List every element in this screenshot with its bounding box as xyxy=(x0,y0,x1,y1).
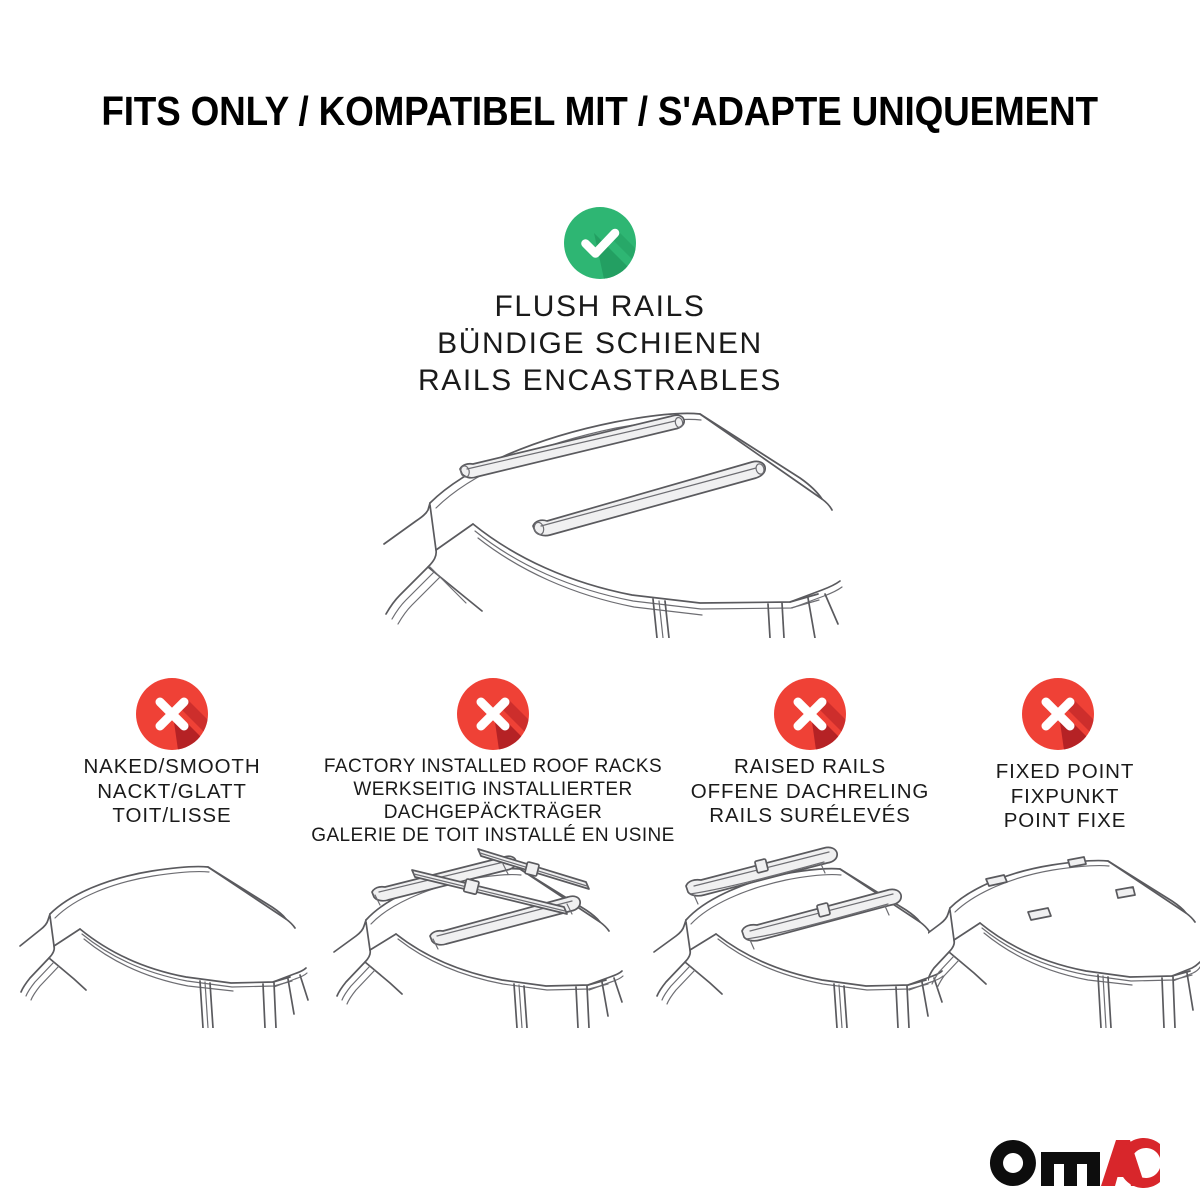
label-line-3: DACHGEPÄCKTRÄGER xyxy=(300,801,686,824)
x-glyph xyxy=(457,678,529,750)
label-line-2: OFFENE DACHRELING xyxy=(660,780,960,805)
compatible-label: FLUSH RAILS BÜNDIGE SCHIENEN RAILS ENCAS… xyxy=(0,288,1200,399)
label-line-1: RAISED RAILS xyxy=(660,755,960,780)
omac-logo: OMAC xyxy=(988,1138,1160,1188)
label-line-3: RAILS SURÉLEVÉS xyxy=(660,804,960,829)
label-line-1: FACTORY INSTALLED ROOF RACKS xyxy=(300,755,686,778)
compatible-label-line-1: FLUSH RAILS xyxy=(0,288,1200,325)
incompatible-label-raised-rails: RAISED RAILS OFFENE DACHRELING RAILS SUR… xyxy=(660,755,960,829)
label-line-1: FIXED POINT xyxy=(930,760,1200,785)
page-title-text: FITS ONLY / KOMPATIBEL MIT / S'ADAPTE UN… xyxy=(102,88,1098,134)
car-roof-fixed-point-illustration xyxy=(928,838,1200,1028)
x-glyph xyxy=(774,678,846,750)
x-glyph xyxy=(1022,678,1094,750)
compatible-label-line-3: RAILS ENCASTRABLES xyxy=(0,362,1200,399)
x-circle-icon xyxy=(1022,678,1094,750)
label-line-2: NACKT/GLATT xyxy=(22,780,322,805)
incompatible-label-fixed-point: FIXED POINT FIXPUNKT POINT FIXE xyxy=(930,760,1200,834)
compatible-label-line-2: BÜNDIGE SCHIENEN xyxy=(0,325,1200,362)
label-line-3: TOIT/LISSE xyxy=(22,804,322,829)
label-line-3: POINT FIXE xyxy=(930,809,1200,834)
page-title: FITS ONLY / KOMPATIBEL MIT / S'ADAPTE UN… xyxy=(0,88,1200,134)
check-circle-icon xyxy=(564,207,636,279)
logo-letter-o xyxy=(990,1140,1036,1186)
check-glyph xyxy=(564,207,636,279)
x-glyph xyxy=(136,678,208,750)
logo-letter-m xyxy=(1041,1152,1100,1186)
incompatible-label-naked-smooth: NAKED/SMOOTH NACKT/GLATT TOIT/LISSE xyxy=(22,755,322,829)
car-roof-flush-rails-illustration xyxy=(370,398,850,638)
car-roof-naked-smooth-illustration xyxy=(10,838,310,1028)
label-line-2: WERKSEITIG INSTALLIERTER xyxy=(300,778,686,801)
x-circle-icon xyxy=(136,678,208,750)
x-circle-icon xyxy=(774,678,846,750)
car-roof-factory-racks-illustration xyxy=(318,828,648,1028)
x-circle-icon xyxy=(457,678,529,750)
label-line-2: FIXPUNKT xyxy=(930,785,1200,810)
label-line-1: NAKED/SMOOTH xyxy=(22,755,322,780)
car-roof-raised-rails-illustration xyxy=(638,828,968,1028)
